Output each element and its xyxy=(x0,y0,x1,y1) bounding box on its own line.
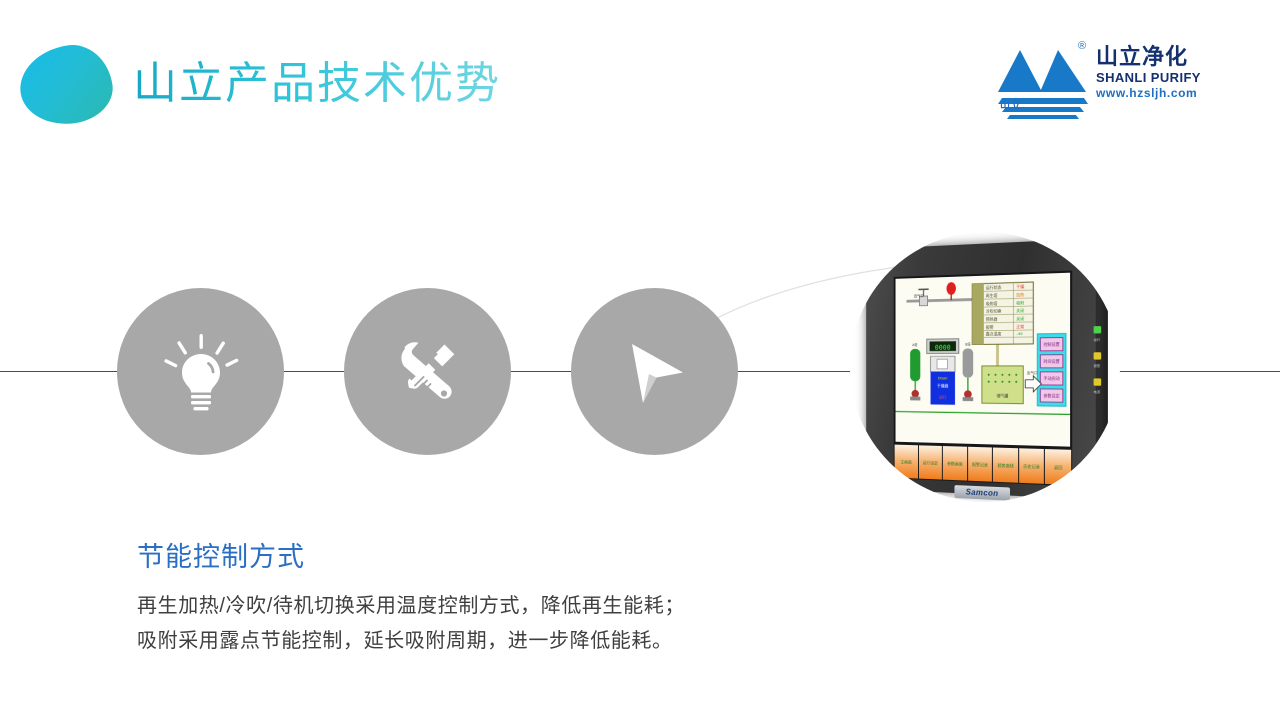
svg-text:正常: 正常 xyxy=(1016,324,1024,329)
power-led xyxy=(1093,378,1101,385)
svg-text:Dryer: Dryer xyxy=(938,376,948,380)
svg-text:0000: 0000 xyxy=(935,343,951,351)
svg-text:手动启动: 手动启动 xyxy=(1043,376,1060,381)
page-title: 山立产品技术优势 xyxy=(133,56,501,112)
wrench-screwdriver-icon xyxy=(382,326,474,418)
section-subheading: 节能控制方式 xyxy=(137,539,305,575)
panel-brand-plate: Samcon xyxy=(954,485,1010,501)
status-led-group: 运行 报警 电源 xyxy=(1085,326,1109,405)
svg-text:出气口: 出气口 xyxy=(1027,370,1038,375)
svg-text:冷吹切换: 冷吹切换 xyxy=(986,308,1002,314)
hmi-function-button[interactable]: 趋势曲线 xyxy=(993,448,1018,483)
svg-text:预热器: 预热器 xyxy=(986,316,998,321)
cursor-arrow-icon xyxy=(609,326,701,418)
svg-text:关闭: 关闭 xyxy=(1016,316,1024,321)
svg-text:参数设定: 参数设定 xyxy=(1043,393,1060,398)
panel-body: 运行状态再生塔 吸附塔冷吹切换 预热器报警 露点温度 干燥加热 吸附关闭 关闭正… xyxy=(866,238,1096,499)
body-line: 吸附采用露点节能控制，延长吸附周期，进一步降低能耗。 xyxy=(137,624,837,659)
svg-text:报警: 报警 xyxy=(986,324,994,329)
svg-text:-40: -40 xyxy=(1016,331,1023,336)
section-body: 再生加热/冷吹/待机切换采用温度控制方式，降低再生能耗； 吸附采用露点节能控制，… xyxy=(137,589,837,659)
svg-text:加热: 加热 xyxy=(1016,292,1024,297)
svg-text:进气口: 进气口 xyxy=(914,293,924,298)
svg-text:储气罐: 储气罐 xyxy=(997,393,1009,398)
process-mimic-diagram: 运行状态再生塔 吸附塔冷吹切换 预热器报警 露点温度 干燥加热 吸附关闭 关闭正… xyxy=(896,273,1071,447)
registered-trademark-icon: ® xyxy=(1078,40,1086,52)
logo-mark-caption: 山立 xyxy=(1000,96,1022,111)
hmi-function-button[interactable]: 参数画面 xyxy=(943,446,967,481)
svg-text:运行状态: 运行状态 xyxy=(986,285,1002,291)
step-circle-tools[interactable] xyxy=(344,288,511,455)
body-line: 再生加热/冷吹/待机切换采用温度控制方式，降低再生能耗； xyxy=(137,589,837,624)
hmi-function-button[interactable]: 主画面 xyxy=(895,445,918,479)
step-circle-pointer[interactable] xyxy=(571,288,738,455)
hmi-function-button-bar[interactable]: 主画面 运行设定 参数画面 报警记录 趋势曲线 历史记录 返回 xyxy=(894,444,1073,486)
hmi-screen[interactable]: 运行状态再生塔 吸附塔冷吹切换 预热器报警 露点温度 干燥加热 吸附关闭 关闭正… xyxy=(894,271,1073,449)
step-circle-idea[interactable] xyxy=(117,288,284,455)
power-led-label: 电源 xyxy=(1085,390,1109,394)
alarm-led-label: 报警 xyxy=(1085,364,1109,368)
run-led-label: 运行 xyxy=(1085,337,1109,341)
hmi-panel-photo: 运行状态再生塔 吸附塔冷吹切换 预热器报警 露点温度 干燥加热 吸附关闭 关闭正… xyxy=(850,232,1120,502)
logo-website: www.hzsljh.com xyxy=(1096,86,1221,101)
brand-logo: ® 山立 山立净化 SHANLI PURIFY www.hzsljh.com xyxy=(996,38,1218,122)
svg-text:干燥: 干燥 xyxy=(1016,284,1024,289)
svg-text:干燥器: 干燥器 xyxy=(937,383,948,388)
hmi-function-button[interactable]: 运行设定 xyxy=(919,445,942,479)
logo-text-block: 山立净化 SHANLI PURIFY www.hzsljh.com xyxy=(1096,44,1221,101)
svg-text:时间设置: 时间设置 xyxy=(1043,359,1060,364)
svg-text:再生塔: 再生塔 xyxy=(986,293,998,298)
svg-text:控制设置: 控制设置 xyxy=(1043,341,1060,346)
hmi-function-button[interactable]: 报警记录 xyxy=(968,447,992,482)
alarm-led xyxy=(1093,352,1101,359)
hmi-function-button[interactable]: 返回 xyxy=(1045,449,1071,485)
lightbulb-icon xyxy=(155,326,247,418)
slide-root: 山立产品技术优势 ® 山立 山立净化 SHANLI PURIFY www.hzs… xyxy=(0,0,1280,720)
svg-text:露点温度: 露点温度 xyxy=(986,331,1002,336)
hmi-function-button[interactable]: 历史记录 xyxy=(1019,448,1044,484)
logo-name-en: SHANLI PURIFY xyxy=(1096,70,1221,86)
decorative-blob xyxy=(15,40,117,130)
run-led xyxy=(1093,326,1101,333)
logo-name-cn: 山立净化 xyxy=(1096,44,1221,70)
svg-text:A塔: A塔 xyxy=(912,342,918,347)
svg-text:运行: 运行 xyxy=(939,395,947,400)
svg-text:B塔: B塔 xyxy=(965,341,971,346)
svg-text:吸附: 吸附 xyxy=(1016,300,1024,305)
svg-text:关闭: 关闭 xyxy=(1016,308,1024,313)
svg-text:吸附塔: 吸附塔 xyxy=(986,301,998,306)
